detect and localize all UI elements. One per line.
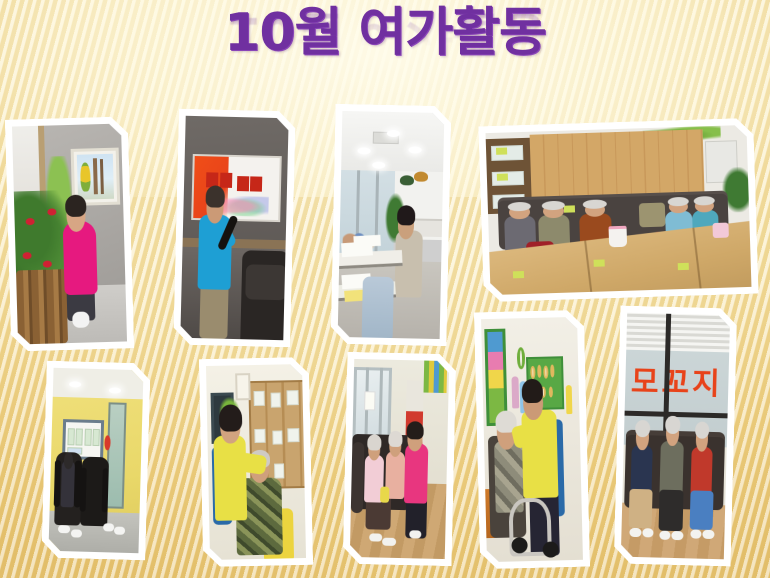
- photo-4-image: [486, 125, 752, 295]
- photo-2-image: [180, 116, 288, 340]
- photo-seniors-on-black-sofa[interactable]: [343, 352, 457, 566]
- photo-9-image: 모꼬지 모임: [621, 313, 730, 560]
- page-title: 10월 여가활동: [0, 6, 770, 61]
- photo-massage-chair-room[interactable]: [41, 361, 150, 561]
- window-sign-line-1: 모꼬지: [623, 347, 731, 413]
- photo-woman-with-flower-planters[interactable]: [5, 116, 134, 351]
- slide-title-block: 10월 여가활동 10월 여가활동: [0, 6, 770, 116]
- photo-7-image: [350, 359, 449, 559]
- page-title-reflection: 10월 여가활동: [0, 7, 770, 62]
- photo-6-image: [206, 364, 306, 560]
- photo-8-image: [481, 317, 583, 562]
- photo-3-image: [338, 111, 445, 339]
- photo-group-seated-on-sofas[interactable]: [478, 118, 758, 303]
- photo-1-image: [12, 124, 127, 345]
- photo-three-seniors-by-window[interactable]: 모꼬지 모임: [614, 306, 738, 567]
- photo-activity-hall-tables[interactable]: [330, 104, 451, 346]
- photo-caregiver-facial-care[interactable]: [199, 357, 313, 567]
- photo-5-image: [48, 368, 143, 553]
- slide-canvas: 10월 여가활동 10월 여가활동: [0, 0, 770, 578]
- photo-singer-with-microphone[interactable]: [173, 109, 296, 348]
- photo-caregiver-helping-senior[interactable]: [474, 310, 590, 570]
